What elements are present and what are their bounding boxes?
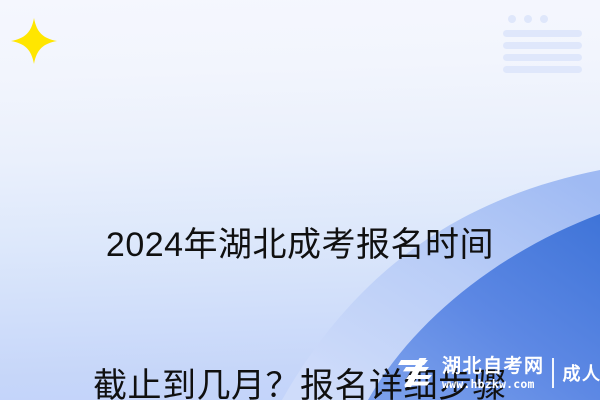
document-lines-icon: [492, 8, 588, 66]
hbzkw-z-mark-icon: [398, 356, 436, 390]
doc-dot: [524, 15, 532, 23]
logo-site-name: 湖北自考网: [442, 356, 545, 377]
logo-site-url: www.hbzkw.com: [442, 377, 545, 391]
doc-bar: [503, 30, 582, 37]
logo-text-block: 湖北自考网 www.hbzkw.com: [442, 356, 545, 391]
doc-bar: [503, 66, 582, 73]
doc-bar: [503, 54, 582, 61]
logo-tagline: 成人高考: [563, 360, 600, 386]
four-point-star-icon: [8, 15, 60, 67]
doc-dot: [540, 15, 548, 23]
doc-bar: [503, 42, 582, 49]
logo-divider: [552, 358, 554, 388]
doc-dot: [508, 15, 516, 23]
promo-banner: 2024年湖北成考报名时间 截止到几月？报名详细步骤 是什么？ 湖北自考网 ww…: [0, 0, 600, 400]
site-logo[interactable]: 湖北自考网 www.hbzkw.com 成人高考: [398, 352, 594, 394]
headline-line-1: 2024年湖北成考报名时间: [0, 222, 600, 269]
